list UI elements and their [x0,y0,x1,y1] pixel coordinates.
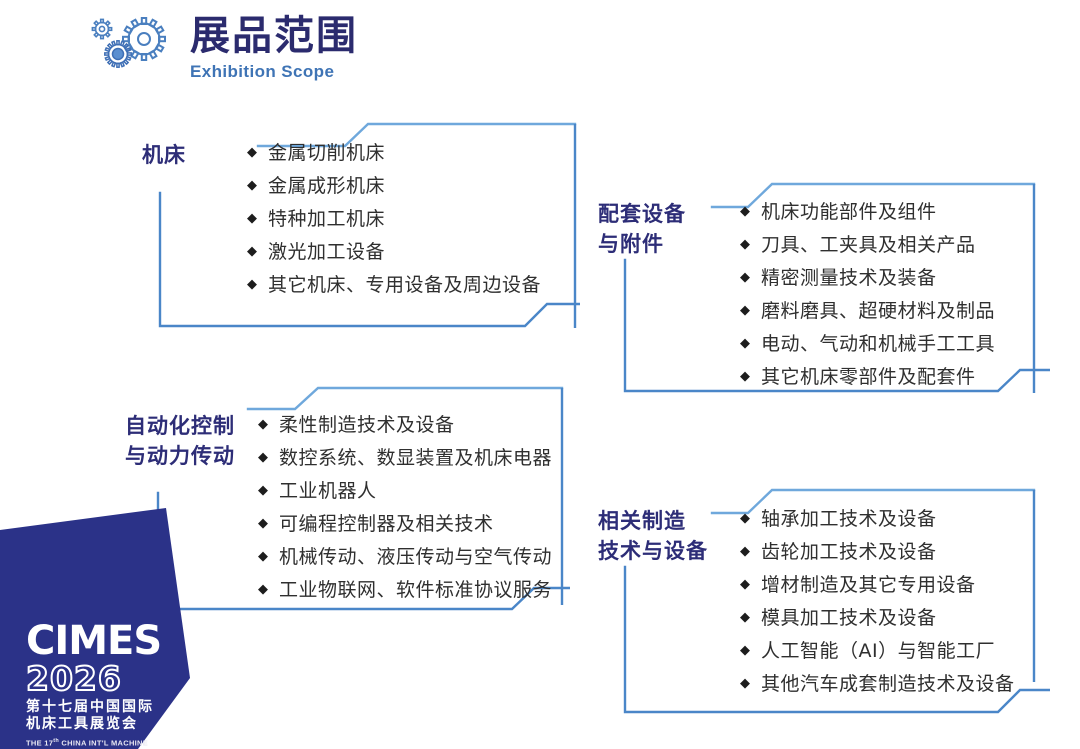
logo-en-line-1: THE 17th CHINA INT'L MACHINE [26,738,176,749]
logo-en-post: CHINA INT'L MACHINE [59,738,148,747]
list-item: ◆ 特种加工机床 [247,210,541,229]
section-heading: 相关制造 技术与设备 [598,506,708,567]
logo-cn-line-2: 机床工具展览会 [26,716,176,734]
section-related-manufacturing: 相关制造 技术与设备 ◆ 轴承加工技术及设备 ◆ 齿轮加工技术及设备 ◆ 增材制… [620,482,1050,720]
list-item: ◆ 刀具、工夹具及相关产品 [740,236,995,255]
page-title-block: 展品范围 Exhibition Scope [190,15,358,82]
bullet-icon: ◆ [740,675,750,693]
section-item-list: ◆ 轴承加工技术及设备 ◆ 齿轮加工技术及设备 ◆ 增材制造及其它专用设备 ◆ … [740,510,1015,708]
bullet-icon: ◆ [740,510,750,528]
bullet-icon: ◆ [258,548,268,566]
list-item: ◆ 柔性制造技术及设备 [258,416,552,435]
logo-wordmark: CIMES [26,622,176,660]
section-heading: 机床 [142,140,186,170]
list-item: ◆ 电动、气动和机械手工工具 [740,335,995,354]
bullet-icon: ◆ [740,543,750,561]
list-item: ◆ 数控系统、数显装置及机床电器 [258,449,552,468]
logo-year: 2026 [26,662,176,697]
page-title: 展品范围 [190,15,358,57]
bullet-icon: ◆ [740,203,750,221]
list-item-label: 工业物联网、软件标准协议服务 [279,581,552,600]
list-item: ◆ 激光加工设备 [247,243,541,262]
bullet-icon: ◆ [247,210,257,228]
list-item-label: 金属切削机床 [268,144,385,163]
bullet-icon: ◆ [740,368,750,386]
exhibition-scope-page: 展品范围 Exhibition Scope 机床 ◆ 金属切削机床 ◆ 金属成形… [0,0,1080,749]
list-item-label: 其它机床零部件及配套件 [761,368,976,387]
list-item-label: 人工智能（AI）与智能工厂 [761,642,995,661]
bullet-icon: ◆ [740,609,750,627]
bullet-icon: ◆ [258,515,268,533]
list-item-label: 数控系统、数显装置及机床电器 [279,449,552,468]
list-item: ◆ 增材制造及其它专用设备 [740,576,1015,595]
list-item-label: 模具加工技术及设备 [761,609,937,628]
list-item: ◆ 轴承加工技术及设备 [740,510,1015,529]
bullet-icon: ◆ [740,335,750,353]
section-heading: 配套设备 与附件 [598,199,686,260]
list-item: ◆ 可编程控制器及相关技术 [258,515,552,534]
list-item: ◆ 人工智能（AI）与智能工厂 [740,642,1015,661]
list-item-label: 金属成形机床 [268,177,385,196]
section-item-list: ◆ 柔性制造技术及设备 ◆ 数控系统、数显装置及机床电器 ◆ 工业机器人 ◆ 可… [258,416,552,614]
bullet-icon: ◆ [258,416,268,434]
section-heading: 自动化控制 与动力传动 [125,411,235,472]
bullet-icon: ◆ [247,276,257,294]
list-item: ◆ 工业机器人 [258,482,552,501]
list-item-label: 电动、气动和机械手工工具 [761,335,995,354]
section-item-list: ◆ 机床功能部件及组件 ◆ 刀具、工夹具及相关产品 ◆ 精密测量技术及装备 ◆ … [740,203,995,401]
logo-cn-line-1: 第十七届中国国际 [26,699,176,717]
logo-text-block: CIMES 2026 第十七届中国国际 机床工具展览会 THE 17th CHI… [26,622,176,749]
list-item-label: 柔性制造技术及设备 [279,416,455,435]
bullet-icon: ◆ [740,302,750,320]
list-item: ◆ 其他汽车成套制造技术及设备 [740,675,1015,694]
list-item: ◆ 机床功能部件及组件 [740,203,995,222]
section-supporting-equipment: 配套设备 与附件 ◆ 机床功能部件及组件 ◆ 刀具、工夹具及相关产品 ◆ 精密测… [620,178,1050,398]
page-subtitle: Exhibition Scope [190,62,358,82]
list-item-label: 激光加工设备 [268,243,385,262]
bullet-icon: ◆ [258,449,268,467]
list-item: ◆ 其它机床、专用设备及周边设备 [247,276,541,295]
list-item: ◆ 金属成形机床 [247,177,541,196]
list-item: ◆ 精密测量技术及装备 [740,269,995,288]
list-item: ◆ 磨料磨具、超硬材料及制品 [740,302,995,321]
logo-en-pre: THE 17 [26,738,53,747]
list-item: ◆ 工业物联网、软件标准协议服务 [258,581,552,600]
list-item-label: 齿轮加工技术及设备 [761,543,937,562]
bullet-icon: ◆ [258,581,268,599]
list-item: ◆ 其它机床零部件及配套件 [740,368,995,387]
list-item-label: 刀具、工夹具及相关产品 [761,236,976,255]
bullet-icon: ◆ [740,236,750,254]
list-item: ◆ 金属切削机床 [247,144,541,163]
list-item-label: 可编程控制器及相关技术 [279,515,494,534]
cimes-logo-badge: CIMES 2026 第十七届中国国际 机床工具展览会 THE 17th CHI… [0,508,215,749]
list-item: ◆ 齿轮加工技术及设备 [740,543,1015,562]
list-item-label: 其它机床、专用设备及周边设备 [268,276,541,295]
list-item-label: 工业机器人 [279,482,377,501]
gears-icon-group [88,12,180,84]
list-item-label: 轴承加工技术及设备 [761,510,937,529]
bullet-icon: ◆ [247,243,257,261]
section-item-list: ◆ 金属切削机床 ◆ 金属成形机床 ◆ 特种加工机床 ◆ 激光加工设备 ◆ 其它… [247,144,541,309]
bullet-icon: ◆ [740,642,750,660]
list-item-label: 增材制造及其它专用设备 [761,576,976,595]
page-header: 展品范围 Exhibition Scope [88,12,358,84]
bullet-icon: ◆ [740,576,750,594]
bullet-icon: ◆ [247,177,257,195]
list-item: ◆ 机械传动、液压传动与空气传动 [258,548,552,567]
bullet-icon: ◆ [258,482,268,500]
list-item-label: 机床功能部件及组件 [761,203,937,222]
section-machine-tools: 机床 ◆ 金属切削机床 ◆ 金属成形机床 ◆ 特种加工机床 ◆ 激光加工设备 ◆… [155,118,580,333]
bullet-icon: ◆ [247,144,257,162]
gear-icon-medium [88,12,180,84]
bullet-icon: ◆ [740,269,750,287]
list-item-label: 特种加工机床 [268,210,385,229]
list-item-label: 磨料磨具、超硬材料及制品 [761,302,995,321]
list-item-label: 机械传动、液压传动与空气传动 [279,548,552,567]
list-item: ◆ 模具加工技术及设备 [740,609,1015,628]
list-item-label: 精密测量技术及装备 [761,269,937,288]
list-item-label: 其他汽车成套制造技术及设备 [761,675,1015,694]
